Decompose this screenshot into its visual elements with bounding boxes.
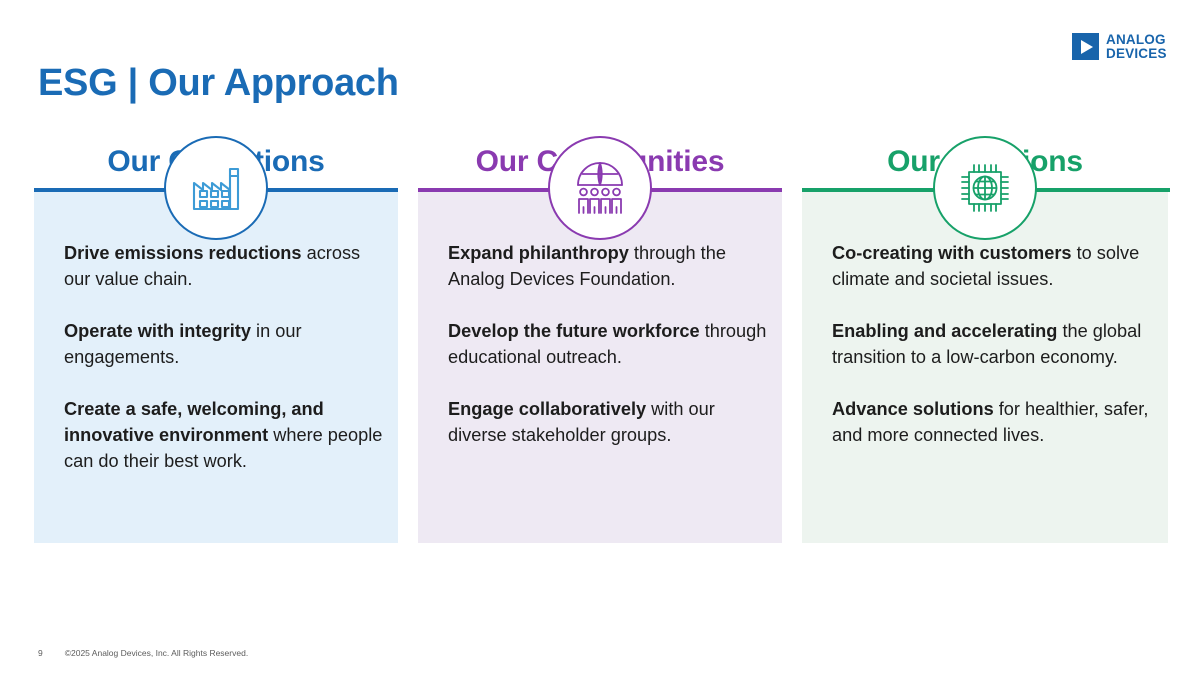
paragraph: Engage collaboratively with our diverse … — [448, 396, 768, 449]
column-band-communities: Expand philanthropy through the Analog D… — [418, 188, 782, 651]
column-our-operations: Our Operations — [34, 140, 398, 651]
column-band-solutions: Co-creating with customers to solve clim… — [802, 188, 1168, 651]
logo-line-2: DEVICES — [1106, 47, 1167, 61]
community-globe-icon — [569, 159, 631, 217]
paragraph-lead: Expand philanthropy — [448, 243, 629, 263]
paragraph: Operate with integrity in our engagement… — [64, 318, 384, 371]
paragraph-lead: Develop the future workforce — [448, 321, 700, 341]
paragraph: Drive emissions reductions across our va… — [64, 240, 384, 293]
paragraph-lead: Advance solutions — [832, 399, 994, 419]
chip-globe-icon — [956, 159, 1014, 217]
paragraph: Create a safe, welcoming, and innovative… — [64, 396, 384, 475]
analog-devices-logo: ANALOG DEVICES — [1072, 33, 1167, 60]
paragraph-lead: Engage collaboratively — [448, 399, 646, 419]
icon-circle-communities — [548, 136, 652, 240]
column-body-solutions: Co-creating with customers to solve clim… — [832, 240, 1162, 448]
paragraph-lead: Drive emissions reductions — [64, 243, 302, 263]
paragraph: Co-creating with customers to solve clim… — [832, 240, 1162, 293]
slide-footer: 9 ©2025 Analog Devices, Inc. All Rights … — [38, 648, 248, 658]
column-our-solutions: Our Solutions — [802, 140, 1168, 651]
factory-icon — [186, 159, 246, 217]
play-triangle-icon — [1081, 40, 1093, 54]
paragraph: Enabling and accelerating the global tra… — [832, 318, 1162, 371]
column-band-operations: Drive emissions reductions across our va… — [34, 188, 398, 651]
logo-mark-icon — [1072, 33, 1099, 60]
slide: ANALOG DEVICES ESG | Our Approach Our Op… — [0, 0, 1200, 675]
paragraph-lead: Enabling and accelerating — [832, 321, 1057, 341]
logo-wordmark: ANALOG DEVICES — [1106, 33, 1167, 60]
paragraph-lead: Operate with integrity — [64, 321, 251, 341]
paragraph: Expand philanthropy through the Analog D… — [448, 240, 768, 293]
logo-line-1: ANALOG — [1106, 33, 1167, 47]
column-our-communities: Our Communities — [418, 140, 782, 651]
paragraph-lead: Co-creating with customers — [832, 243, 1072, 263]
icon-circle-operations — [164, 136, 268, 240]
page-title: ESG | Our Approach — [38, 62, 399, 105]
paragraph: Advance solutions for healthier, safer, … — [832, 396, 1162, 449]
paragraph: Develop the future workforce through edu… — [448, 318, 768, 371]
column-body-operations: Drive emissions reductions across our va… — [64, 240, 384, 475]
copyright-notice: ©2025 Analog Devices, Inc. All Rights Re… — [65, 648, 248, 658]
column-body-communities: Expand philanthropy through the Analog D… — [448, 240, 768, 448]
page-number: 9 — [38, 648, 43, 658]
icon-circle-solutions — [933, 136, 1037, 240]
